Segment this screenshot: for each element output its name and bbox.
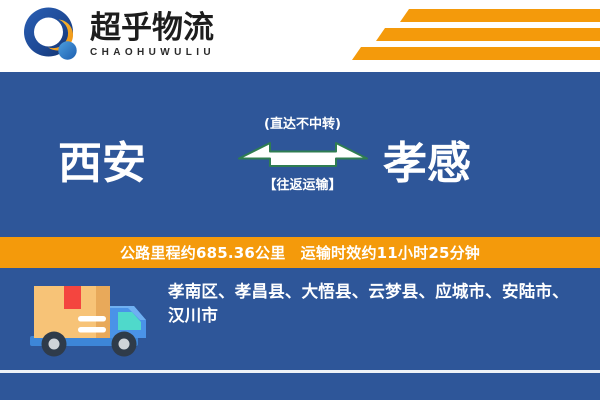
brand-name-cn: 超乎物流 <box>90 12 215 45</box>
header: 超乎物流 CHAOHUWULIU <box>0 0 600 72</box>
stripe-1 <box>400 9 600 22</box>
double-arrow-icon <box>237 137 369 171</box>
brand-text: 超乎物流 CHAOHUWULIU <box>90 12 215 58</box>
bottom-divider <box>0 370 600 373</box>
header-stripes-decoration <box>340 9 600 65</box>
coverage-row: 孝南区、孝昌县、大悟县、云梦县、应城市、安陆市、汉川市 <box>0 268 600 370</box>
circle-crescent-logo-icon <box>22 6 84 64</box>
brand-name-en: CHAOHUWULIU <box>90 47 215 58</box>
logistics-route-poster: 超乎物流 CHAOHUWULIU 西安 (直达不中转) 【往返运输】 孝感 <box>0 0 600 400</box>
route-arrow-block: (直达不中转) 【往返运输】 <box>230 108 375 228</box>
coverage-areas-text: 孝南区、孝昌县、大悟县、云梦县、应城市、安陆市、汉川市 <box>168 280 582 328</box>
delivery-truck-icon <box>22 278 154 364</box>
main-panel: 西安 (直达不中转) 【往返运输】 孝感 公路里程约685.36公里 运输时效约… <box>0 72 600 400</box>
route-note-top: (直达不中转) <box>230 118 375 131</box>
route-note-bottom: 【往返运输】 <box>230 179 375 192</box>
stripe-2 <box>376 28 600 41</box>
brand-logo: 超乎物流 CHAOHUWULIU <box>22 6 215 64</box>
route-row: 西安 (直达不中转) 【往返运输】 孝感 <box>0 108 600 228</box>
stripe-3 <box>352 47 600 60</box>
destination-city: 孝感 <box>383 142 471 186</box>
origin-city: 西安 <box>58 142 146 186</box>
distance-duration-text: 公路里程约685.36公里 运输时效约11小时25分钟 <box>120 242 480 263</box>
distance-duration-bar: 公路里程约685.36公里 运输时效约11小时25分钟 <box>0 237 600 268</box>
